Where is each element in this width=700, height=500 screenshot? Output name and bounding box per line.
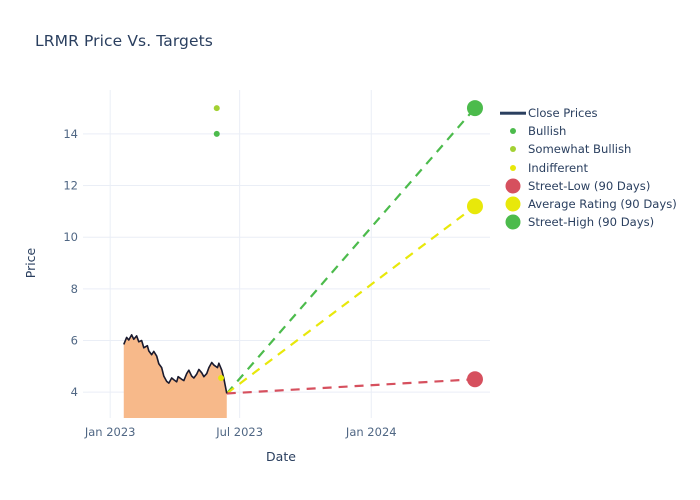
- svg-text:4: 4: [71, 385, 78, 399]
- legend-item-label: Street-Low (90 Days): [528, 177, 650, 195]
- legend-item-label: Close Prices: [528, 104, 598, 122]
- analyst-rating-points: [214, 105, 224, 381]
- legend-item-label: Street-High (90 Days): [528, 213, 654, 231]
- svg-text:14: 14: [63, 127, 78, 141]
- legend-item[interactable]: Somewhat Bullish: [498, 140, 693, 158]
- svg-text:10: 10: [63, 230, 78, 244]
- y-axis-title: Price: [23, 247, 38, 278]
- plot-area: 468101214 Jan 2023Jul 2023Jan 2024 Price…: [0, 0, 700, 500]
- legend-item[interactable]: Street-Low (90 Days): [498, 177, 693, 195]
- svg-text:Jan 2024: Jan 2024: [345, 425, 397, 439]
- x-axis-ticks: Jan 2023Jul 2023Jan 2024: [84, 425, 397, 439]
- svg-text:12: 12: [63, 179, 78, 193]
- legend-line-icon: [498, 104, 528, 122]
- x-axis-title: Date: [266, 449, 296, 464]
- chart-legend: Close PricesBullishSomewhat BullishIndif…: [498, 104, 693, 231]
- legend-item[interactable]: Bullish: [498, 122, 693, 140]
- legend-item-label: Indifferent: [528, 159, 588, 177]
- legend-item-label: Somewhat Bullish: [528, 140, 631, 158]
- svg-text:Jul 2023: Jul 2023: [215, 425, 263, 439]
- legend-item[interactable]: Indifferent: [498, 159, 693, 177]
- legend-item-label: Average Rating (90 Days): [528, 195, 677, 213]
- legend-item[interactable]: Close Prices: [498, 104, 693, 122]
- legend-dot-icon: [498, 177, 528, 195]
- legend-item[interactable]: Street-High (90 Days): [498, 213, 693, 231]
- legend-dot-icon: [498, 213, 528, 231]
- legend-dot-icon: [498, 195, 528, 213]
- svg-text:8: 8: [71, 282, 78, 296]
- chart-figure: LRMR Price Vs. Targets 468101214 Jan 202…: [0, 0, 700, 500]
- price-target-markers: [467, 100, 483, 387]
- close-price-area-fill: [124, 335, 227, 418]
- legend-item[interactable]: Average Rating (90 Days): [498, 195, 693, 213]
- svg-text:Jan 2023: Jan 2023: [84, 425, 136, 439]
- projection-lines: [227, 108, 475, 393]
- legend-dot-icon: [498, 140, 528, 158]
- legend-item-label: Bullish: [528, 122, 566, 140]
- y-axis-ticks: 468101214: [63, 127, 88, 399]
- svg-text:6: 6: [71, 334, 78, 348]
- legend-dot-icon: [498, 122, 528, 140]
- legend-dot-icon: [498, 159, 528, 177]
